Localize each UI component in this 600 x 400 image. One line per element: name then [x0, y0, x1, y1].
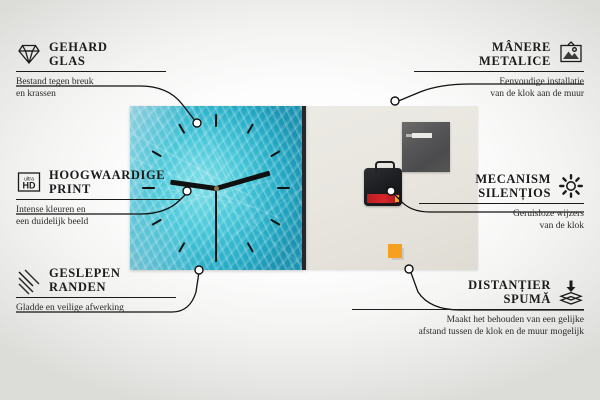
clock-second-hand [215, 188, 217, 250]
callout-title: GEHARD GLAS [49, 40, 107, 68]
callout-header: DISTANȚIER SPUMĂ [352, 278, 584, 306]
clock-tick [178, 123, 185, 134]
clock-tick [247, 123, 254, 134]
callout-title: GESLEPEN RANDEN [49, 266, 121, 294]
callout-subtitle: Maakt het behouden van een gelijke afsta… [352, 314, 584, 338]
clock-tick [215, 114, 217, 127]
callout-title: MECANISM SILENȚIOS [475, 172, 551, 200]
clock-tick [277, 187, 290, 189]
divider [16, 199, 181, 200]
clock-tick [178, 242, 185, 253]
clock-tick [247, 242, 254, 253]
callout-geslepen-randen[interactable]: GESLEPEN RANDEN Gladde en veilige afwerk… [16, 266, 176, 314]
callout-title: DISTANȚIER SPUMĂ [468, 278, 551, 306]
callout-header: MÂNERE METALICE [414, 40, 584, 68]
divider [352, 309, 584, 310]
callout-hoogwaardige-print[interactable]: ultra HD HOOGWAARDIGE PRINT Intense kleu… [16, 168, 181, 228]
divider [419, 203, 584, 204]
ultra-hd-icon: ultra HD [16, 169, 42, 195]
callout-subtitle: Gladde en veilige afwerking [16, 302, 176, 314]
clock-tick [270, 150, 281, 157]
diamond-icon [16, 41, 42, 67]
clock-tick [215, 249, 217, 262]
callout-gehard-glas[interactable]: GEHARD GLAS Bestand tegen breuk en krass… [16, 40, 166, 100]
divider [16, 71, 166, 72]
callout-subtitle: Eenvoudige installatie van de klok aan d… [414, 76, 584, 100]
callout-distantier-spuma[interactable]: DISTANȚIER SPUMĂ Maakt het behouden van … [352, 278, 584, 338]
divider [414, 71, 584, 72]
callout-title: HOOGWAARDIGE PRINT [49, 168, 165, 196]
silent-clock-movement [364, 168, 402, 206]
spacer-press-icon [558, 279, 584, 305]
callout-manere-metalice[interactable]: MÂNERE METALICE Eenvoudige installatie v… [414, 40, 584, 100]
callout-subtitle: Bestand tegen breuk en krassen [16, 76, 166, 100]
clock-pivot [214, 186, 219, 191]
divider [16, 297, 176, 298]
gear-icon [558, 173, 584, 199]
clock-tick [151, 150, 162, 157]
metal-hanger-plate [402, 122, 450, 172]
callout-header: GESLEPEN RANDEN [16, 266, 176, 294]
callout-header: ultra HD HOOGWAARDIGE PRINT [16, 168, 181, 196]
callout-header: MECANISM SILENȚIOS [419, 172, 584, 200]
infographic-canvas: GEHARD GLAS Bestand tegen breuk en krass… [0, 0, 600, 400]
battery [367, 194, 397, 203]
svg-text:HD: HD [23, 181, 36, 191]
foam-spacer [388, 244, 402, 258]
picture-frame-hook-icon [558, 41, 584, 67]
callout-subtitle: Geruisloze wijzers van de klok [419, 208, 584, 232]
beveled-edges-icon [16, 267, 42, 293]
callout-title: MÂNERE METALICE [479, 40, 551, 68]
callout-subtitle: Intense kleuren en een duidelijk beeld [16, 204, 181, 228]
callout-mecanism-silentios[interactable]: MECANISM SILENȚIOS Geruisloze wijzers va… [419, 172, 584, 232]
clock-tick [270, 219, 281, 226]
callout-header: GEHARD GLAS [16, 40, 166, 68]
